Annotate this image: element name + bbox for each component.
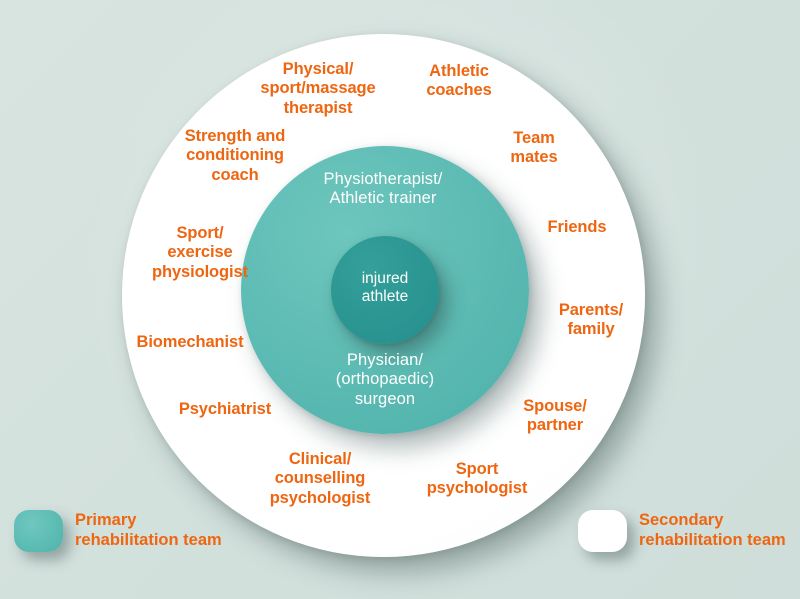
label-injured-athlete: injured athlete: [331, 270, 439, 307]
label-team-mates: Team mates: [487, 129, 581, 168]
label-athletic-coaches: Athletic coaches: [404, 62, 514, 101]
label-sport-exercise-physiologist: Sport/ exercise physiologist: [136, 224, 264, 282]
label-spouse-partner: Spouse/ partner: [505, 397, 605, 436]
legend-label-secondary: Secondary rehabilitation team: [639, 511, 786, 551]
label-clinical-counselling-psychologist: Clinical/ counselling psychologist: [255, 450, 385, 508]
legend-swatch-primary: [14, 510, 63, 552]
diagram-canvas: Physical/ sport/massage therapist Athlet…: [0, 0, 800, 599]
label-friends: Friends: [530, 218, 624, 237]
label-physical-sport-massage-therapist: Physical/ sport/massage therapist: [243, 60, 393, 118]
label-physiotherapist-athletic-trainer: Physiotherapist/ Athletic trainer: [285, 170, 481, 209]
label-physician-orthopaedic-surgeon: Physician/ (orthopaedic) surgeon: [300, 351, 470, 409]
legend-label-primary: Primary rehabilitation team: [75, 511, 222, 551]
label-sport-psychologist: Sport psychologist: [409, 460, 545, 499]
legend-swatch-secondary: [578, 510, 627, 552]
legend-item-secondary: Secondary rehabilitation team: [578, 510, 786, 552]
label-parents-family: Parents/ family: [539, 301, 643, 340]
legend-item-primary: Primary rehabilitation team: [14, 510, 222, 552]
label-biomechanist: Biomechanist: [131, 333, 249, 352]
label-psychiatrist: Psychiatrist: [170, 400, 280, 419]
